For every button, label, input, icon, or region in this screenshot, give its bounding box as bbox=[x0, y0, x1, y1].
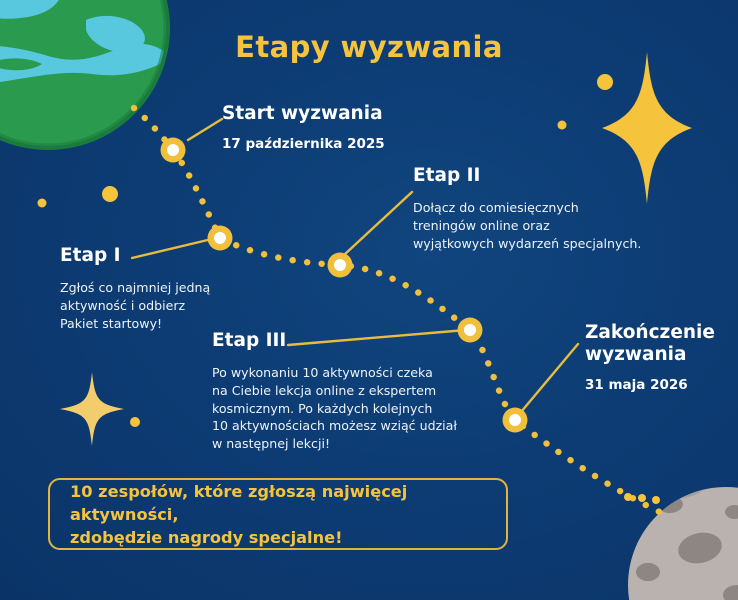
infographic-canvas: Etapy wyzwania Start wyzwania 17 paździe… bbox=[0, 0, 738, 600]
milestone-heading-etap-3: Etap III bbox=[212, 330, 482, 352]
milestone-body-etap-2: Dołącz do comiesięcznych treningów onlin… bbox=[413, 199, 653, 253]
milestone-block-start: Start wyzwania 17 października 2025 bbox=[222, 103, 432, 152]
milestone-block-etap-3: Etap III Po wykonaniu 10 aktywności czek… bbox=[212, 330, 482, 453]
milestone-date-finish: 31 maja 2026 bbox=[585, 377, 735, 393]
page-title: Etapy wyzwania bbox=[0, 30, 738, 64]
milestone-body-etap-3: Po wykonaniu 10 aktywności czeka na Cieb… bbox=[212, 364, 482, 453]
milestone-block-etap-1: Etap I Zgłoś co najmniej jedną aktywność… bbox=[60, 245, 250, 332]
sparkle-star-small bbox=[60, 372, 124, 446]
milestone-body-etap-1: Zgłoś co najmniej jedną aktywność i odbi… bbox=[60, 279, 250, 333]
special-prize-banner-text: 10 zespołów, które zgłoszą najwięcej akt… bbox=[70, 480, 486, 549]
milestone-heading-start: Start wyzwania bbox=[222, 103, 432, 125]
milestone-block-finish: Zakończenie wyzwania 31 maja 2026 bbox=[585, 322, 735, 393]
milestone-date-start: 17 października 2025 bbox=[222, 136, 432, 152]
milestone-heading-etap-2: Etap II bbox=[413, 165, 653, 187]
milestone-block-etap-2: Etap II Dołącz do comiesięcznych trening… bbox=[413, 165, 653, 252]
milestone-heading-etap-1: Etap I bbox=[60, 245, 250, 267]
milestone-heading-finish: Zakończenie wyzwania bbox=[585, 322, 735, 366]
special-prize-banner: 10 zespołów, które zgłoszą najwięcej akt… bbox=[48, 478, 508, 550]
